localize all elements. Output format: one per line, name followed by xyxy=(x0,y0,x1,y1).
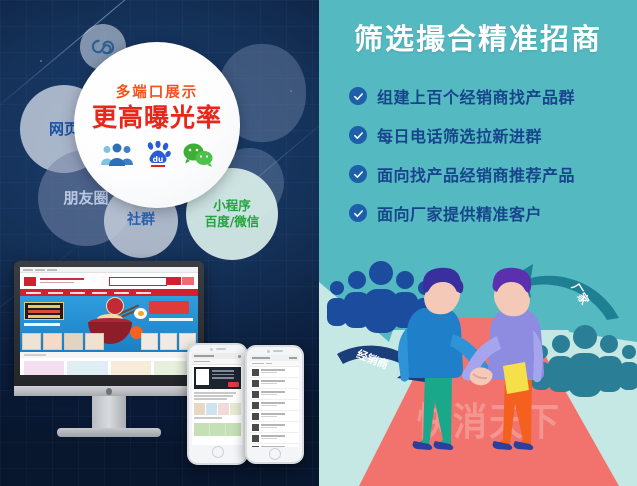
bubble-miniprogram-label-2: 百度/微信 xyxy=(205,214,260,229)
phone-screen xyxy=(192,353,243,445)
imac-chin xyxy=(14,386,204,396)
check-circle-icon xyxy=(349,204,367,222)
list-item-label: 面向找产品经销商推荐产品 xyxy=(377,162,575,186)
list-item[interactable] xyxy=(250,367,299,378)
phone-home-button[interactable] xyxy=(189,445,246,459)
glow-dot xyxy=(40,60,42,62)
site-logo-text xyxy=(40,278,84,285)
user-group-icon xyxy=(100,143,134,167)
product-card-row xyxy=(20,358,198,375)
feature-card[interactable] xyxy=(194,367,241,389)
article-text xyxy=(192,391,243,402)
list-item[interactable] xyxy=(250,444,299,447)
promo-poster: 网页 朋友圈 社群 小程序 百度/微信 多端口展示 更高曝光率 xyxy=(0,0,637,486)
phone-earpiece xyxy=(189,345,246,353)
phone-earpiece xyxy=(247,347,302,355)
list-item[interactable] xyxy=(250,411,299,422)
site-nav[interactable] xyxy=(20,289,198,296)
banner-badge xyxy=(24,302,64,320)
banner-right-brand xyxy=(149,301,195,321)
promo-strip xyxy=(194,423,241,436)
handshake-illustration: 快消天下 xyxy=(319,222,637,486)
image-grid xyxy=(192,402,243,416)
article-text xyxy=(192,416,243,421)
site-logo-mark xyxy=(24,277,36,286)
list-item: 每日电话筛选拉新进群 xyxy=(349,123,627,147)
apple-logo-icon xyxy=(106,388,112,395)
phone-home-button[interactable] xyxy=(247,447,302,461)
center-highlight-circle: 多端口展示 更高曝光率 xyxy=(74,42,240,208)
baidu-icon: du xyxy=(145,141,171,169)
list-item[interactable] xyxy=(250,378,299,389)
list-item: 面向找产品经销商推荐产品 xyxy=(349,162,627,186)
right-panel: 筛选撮合精准招商 组建上百个经销商找产品群 每日电话筛选拉新进群 面向找产品经销… xyxy=(319,0,637,486)
site-search-alt-button[interactable] xyxy=(182,277,194,285)
check-circle-icon xyxy=(349,87,367,105)
wechat-icon xyxy=(182,142,214,168)
egg-illustration xyxy=(134,308,147,319)
card-action-button[interactable] xyxy=(228,382,239,387)
brand-caption xyxy=(149,318,195,321)
bubble-community-label: 社群 xyxy=(127,212,155,230)
list-item[interactable] xyxy=(250,389,299,400)
imac-desktop-mockup xyxy=(14,261,204,437)
banner-caption xyxy=(24,323,64,326)
imac-stand-foot xyxy=(57,428,161,437)
svg-text:du: du xyxy=(153,155,164,164)
check-circle-icon xyxy=(349,126,367,144)
site-search-button[interactable] xyxy=(167,277,181,285)
platform-icon-row: du xyxy=(100,141,214,169)
center-title: 更高曝光率 xyxy=(92,105,222,131)
card-text-lines xyxy=(212,370,234,381)
page-title: 筛选撮合精准招商 xyxy=(319,16,637,58)
site-hero-banner xyxy=(20,296,198,352)
brand-logo xyxy=(149,301,189,314)
site-search[interactable] xyxy=(109,277,194,286)
site-header xyxy=(20,273,198,289)
left-panel: 网页 朋友圈 社群 小程序 百度/微信 多端口展示 更高曝光率 xyxy=(0,0,319,486)
banner-seal-stamp xyxy=(106,297,124,315)
banner-left-card xyxy=(24,302,64,326)
feature-list: 组建上百个经销商找产品群 每日电话筛选拉新进群 面向找产品经销商推荐产品 面向厂… xyxy=(349,84,627,240)
list-item: 组建上百个经销商找产品群 xyxy=(349,84,627,108)
device-mockups xyxy=(0,255,319,486)
center-subtitle: 多端口展示 xyxy=(116,81,199,102)
bubble-moments-label: 朋友圈 xyxy=(63,189,108,208)
imac-screen xyxy=(20,267,198,375)
site-search-input[interactable] xyxy=(109,277,167,286)
app-sub-bar xyxy=(192,359,243,365)
phone-screen xyxy=(250,355,299,447)
check-circle-icon xyxy=(349,165,367,183)
imac-bezel xyxy=(14,261,204,386)
bubble-miniprogram-label-1: 小程序 xyxy=(213,198,251,213)
list-item-label: 组建上百个经销商找产品群 xyxy=(377,84,575,108)
list-item[interactable] xyxy=(250,422,299,433)
list-item[interactable] xyxy=(250,433,299,444)
product-thumbs-left xyxy=(22,333,104,350)
imac-stand-neck xyxy=(92,396,126,428)
card-thumbnail xyxy=(196,369,209,385)
list-item-label: 每日电话筛选拉新进群 xyxy=(377,123,542,147)
list-item[interactable] xyxy=(250,400,299,411)
iphone-wechat-article-mockup xyxy=(187,343,248,465)
iphone-chat-list-mockup xyxy=(245,345,304,464)
